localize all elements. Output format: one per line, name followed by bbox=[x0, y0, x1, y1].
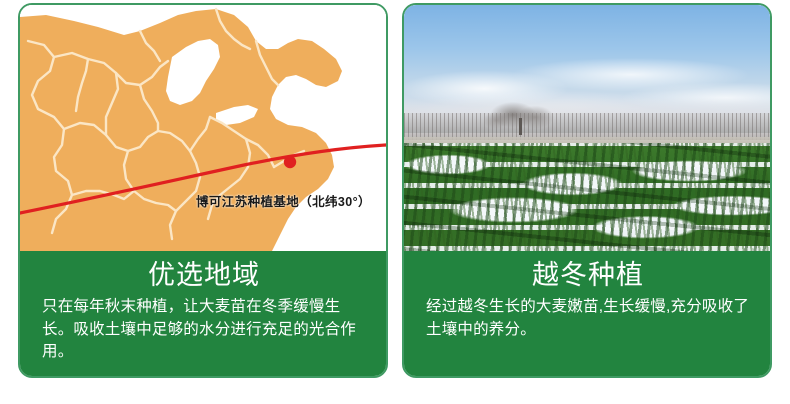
crop-row-shading bbox=[404, 143, 770, 251]
card-body-preferred-region: 只在每年秋末种植，让大麦苗在冬季缓慢生长。吸收土壤中足够的水分进行充足的光合作用… bbox=[42, 296, 366, 364]
map-svg bbox=[20, 5, 386, 251]
planting-base-marker[interactable] bbox=[284, 156, 296, 168]
bare-tree-icon bbox=[485, 94, 559, 134]
card-body-overwinter-planting: 经过越冬生长的大麦嫩苗,生长缓慢,充分吸收了土壤中的养分。 bbox=[426, 296, 750, 341]
caption-overwinter-planting: 越冬种植 经过越冬生长的大麦嫩苗,生长缓慢,充分吸收了土壤中的养分。 bbox=[404, 251, 770, 376]
map-base-label: 博可江苏种植基地（北纬30°） bbox=[196, 191, 371, 210]
china-east-map: 博可江苏种植基地（北纬30°） bbox=[20, 5, 386, 251]
caption-preferred-region: 优选地域 只在每年秋末种植，让大麦苗在冬季缓慢生长。吸收土壤中足够的水分进行充足… bbox=[20, 251, 386, 376]
card-overwinter-planting[interactable]: 越冬种植 经过越冬生长的大麦嫩苗,生长缓慢,充分吸收了土壤中的养分。 bbox=[402, 3, 772, 378]
winter-barley-field-photo bbox=[404, 5, 770, 251]
card-preferred-region[interactable]: 博可江苏种植基地（北纬30°） 优选地域 只在每年秋末种植，让大麦苗在冬季缓慢生… bbox=[18, 3, 388, 378]
map-media: 博可江苏种植基地（北纬30°） bbox=[20, 5, 386, 251]
photo-media bbox=[404, 5, 770, 251]
promo-banner: 博可江苏种植基地（北纬30°） 优选地域 只在每年秋末种植，让大麦苗在冬季缓慢生… bbox=[0, 0, 790, 404]
card-title-overwinter-planting: 越冬种植 bbox=[426, 255, 750, 295]
card-title-preferred-region: 优选地域 bbox=[42, 255, 366, 295]
